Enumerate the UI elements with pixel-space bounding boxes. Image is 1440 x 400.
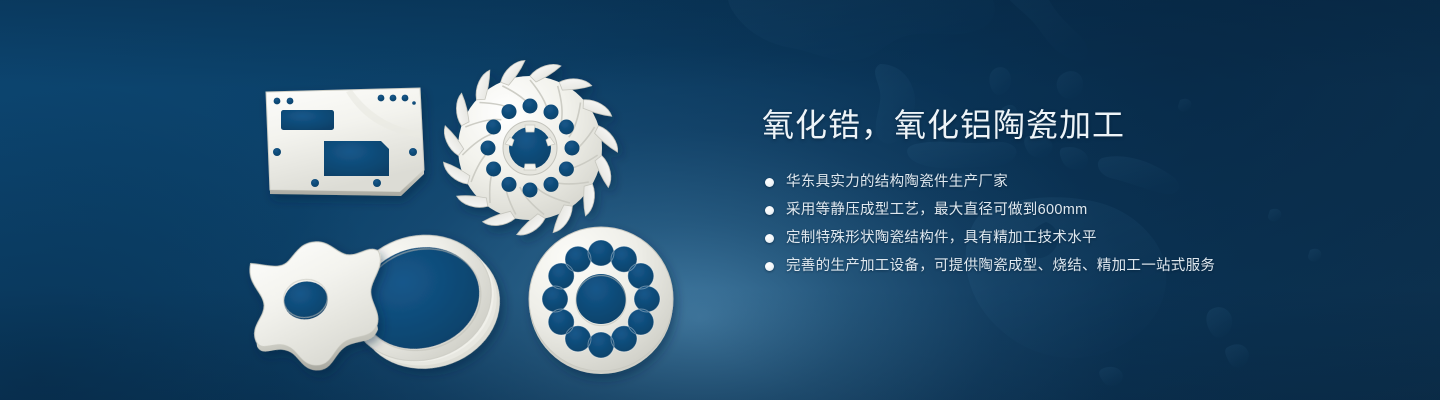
feature-text: 定制特殊形状陶瓷结构件，具有精加工技术水平 xyxy=(786,228,1097,249)
feature-text: 采用等静压成型工艺，最大直径可做到600mm xyxy=(786,200,1087,221)
feature-item: 定制特殊形状陶瓷结构件，具有精加工技术水平 xyxy=(762,228,1402,249)
bullet-dot-icon xyxy=(765,234,774,243)
bullet-dot-icon xyxy=(765,206,774,215)
ceramic-cross-part xyxy=(240,231,397,380)
ceramic-hole-disc-part xyxy=(529,227,673,374)
ceramic-plate-part xyxy=(266,88,424,196)
bullet-dot-icon xyxy=(765,262,774,271)
bullet-dot-icon xyxy=(765,178,774,187)
banner-headline: 氧化锆，氧化铝陶瓷加工 xyxy=(762,104,1402,146)
feature-text: 华东具实力的结构陶瓷件生产厂家 xyxy=(786,172,1008,193)
banner-copy: 氧化锆，氧化铝陶瓷加工 华东具实力的结构陶瓷件生产厂家 采用等静压成型工艺，最大… xyxy=(762,104,1402,284)
feature-text: 完善的生产加工设备，可提供陶瓷成型、烧结、精加工一站式服务 xyxy=(786,256,1215,277)
ceramic-impeller-part xyxy=(442,59,619,236)
feature-item: 华东具实力的结构陶瓷件生产厂家 xyxy=(762,172,1402,193)
feature-item: 完善的生产加工设备，可提供陶瓷成型、烧结、精加工一站式服务 xyxy=(762,256,1402,277)
banner-feature-list: 华东具实力的结构陶瓷件生产厂家 采用等静压成型工艺，最大直径可做到600mm 定… xyxy=(762,172,1402,277)
hero-banner: 氧化锆，氧化铝陶瓷加工 华东具实力的结构陶瓷件生产厂家 采用等静压成型工艺，最大… xyxy=(0,0,1440,400)
feature-item: 采用等静压成型工艺，最大直径可做到600mm xyxy=(762,200,1402,221)
ceramic-products-image xyxy=(0,0,720,400)
